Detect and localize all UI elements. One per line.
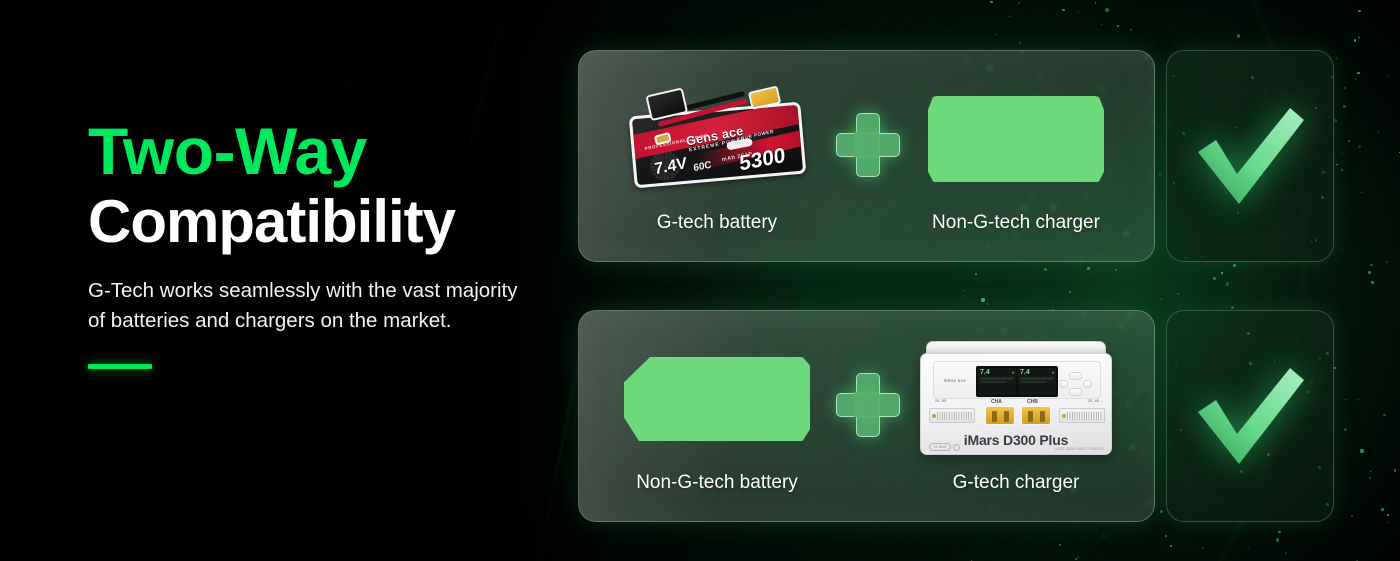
comparison-row: Non-G-tech battery Gens ace — [578, 310, 1334, 522]
accent-bar — [88, 364, 152, 369]
item-label-right: G-tech charger — [953, 472, 1080, 494]
result-panel — [1166, 310, 1334, 522]
combination-item-right: Non-G-tech charger — [896, 51, 1136, 262]
comparison-rows: PROFESSIONAL SERIES YOUR POWER Gens ace … — [578, 50, 1334, 522]
charger-button-down[interactable] — [1069, 388, 1082, 396]
plus-operator — [836, 113, 898, 175]
charger-illustration: Gens ace 7.4 V — [918, 341, 1114, 457]
item-label-left: G-tech battery — [657, 212, 777, 234]
charger-silhouette-shape — [928, 96, 1104, 182]
charger-display-channel-b: 7.4 V — [1018, 368, 1056, 395]
charger-display: 7.4 V 7.4 — [976, 366, 1058, 397]
port-b-label: CHB — [1027, 399, 1038, 405]
combination-panel: PROFESSIONAL SERIES YOUR POWER Gens ace … — [578, 50, 1155, 262]
charger-buttons[interactable] — [1059, 372, 1093, 396]
battery-silhouette-shape — [624, 357, 810, 441]
generic-battery-silhouette — [624, 340, 810, 458]
balance-port-right-label: 2S - 6S — [1088, 399, 1099, 403]
charger-certification: AC/DC 300W SMART CHARGER — [1055, 447, 1103, 451]
plus-operator — [836, 373, 898, 435]
banner-stage: Two-Way Compatibility G-Tech works seaml… — [0, 0, 1400, 561]
headline-line-2: Compatibility — [88, 190, 558, 254]
generic-charger-silhouette — [928, 80, 1104, 198]
combination-panel: Non-G-tech battery Gens ace — [578, 310, 1155, 522]
comparison-row: PROFESSIONAL SERIES YOUR POWER Gens ace … — [578, 50, 1334, 262]
check-icon — [1190, 100, 1310, 212]
channel-a-value: 7.4 — [980, 369, 990, 376]
combination-item-left: Non-G-tech battery — [597, 311, 837, 522]
balance-port-right — [1059, 408, 1105, 423]
combination-item-right: Gens ace 7.4 V — [896, 311, 1136, 522]
plus-icon — [836, 113, 898, 175]
balance-port-left-label: 2S - 6S — [935, 399, 946, 403]
battery-c-rating: 60C — [693, 160, 712, 175]
combination-item-left: PROFESSIONAL SERIES YOUR POWER Gens ace … — [597, 51, 837, 262]
item-label-right: Non-G-tech charger — [932, 212, 1100, 234]
gtech-charger-photo: Gens ace 7.4 V — [918, 340, 1114, 458]
charger-cert-mark — [953, 444, 960, 451]
gtech-battery-photo: PROFESSIONAL SERIES YOUR POWER Gens ace … — [625, 80, 809, 198]
port-a-label: CHA — [991, 399, 1002, 405]
battery-illustration: PROFESSIONAL SERIES YOUR POWER Gens ace … — [621, 79, 813, 199]
copy-block: Two-Way Compatibility G-Tech works seaml… — [88, 118, 558, 369]
balance-port-left — [929, 408, 975, 423]
headline-line-1: Two-Way — [88, 118, 558, 184]
channel-b-unit: V — [1052, 371, 1054, 375]
charger-badges: G-Tech — [929, 443, 960, 451]
xt-port-a — [985, 406, 1015, 425]
charger-ports: 2S - 6S 2S - 6S CHA CHB — [921, 404, 1112, 430]
charger-gtech-badge: G-Tech — [929, 443, 951, 451]
plus-icon — [836, 373, 898, 435]
item-label-left: Non-G-tech battery — [636, 472, 798, 494]
xt-port-b — [1021, 406, 1051, 425]
channel-b-value: 7.4 — [1020, 369, 1030, 376]
charger-button-left[interactable] — [1059, 380, 1068, 388]
charger-brand: Gens ace — [940, 373, 970, 388]
channel-a-unit: V — [1012, 371, 1014, 375]
result-panel — [1166, 50, 1334, 262]
charger-display-channel-a: 7.4 V — [978, 368, 1016, 395]
subcopy-text: G-Tech works seamlessly with the vast ma… — [88, 276, 528, 336]
check-icon — [1190, 360, 1310, 472]
charger-button-up[interactable] — [1069, 372, 1082, 380]
charger-button-right[interactable] — [1083, 380, 1092, 388]
